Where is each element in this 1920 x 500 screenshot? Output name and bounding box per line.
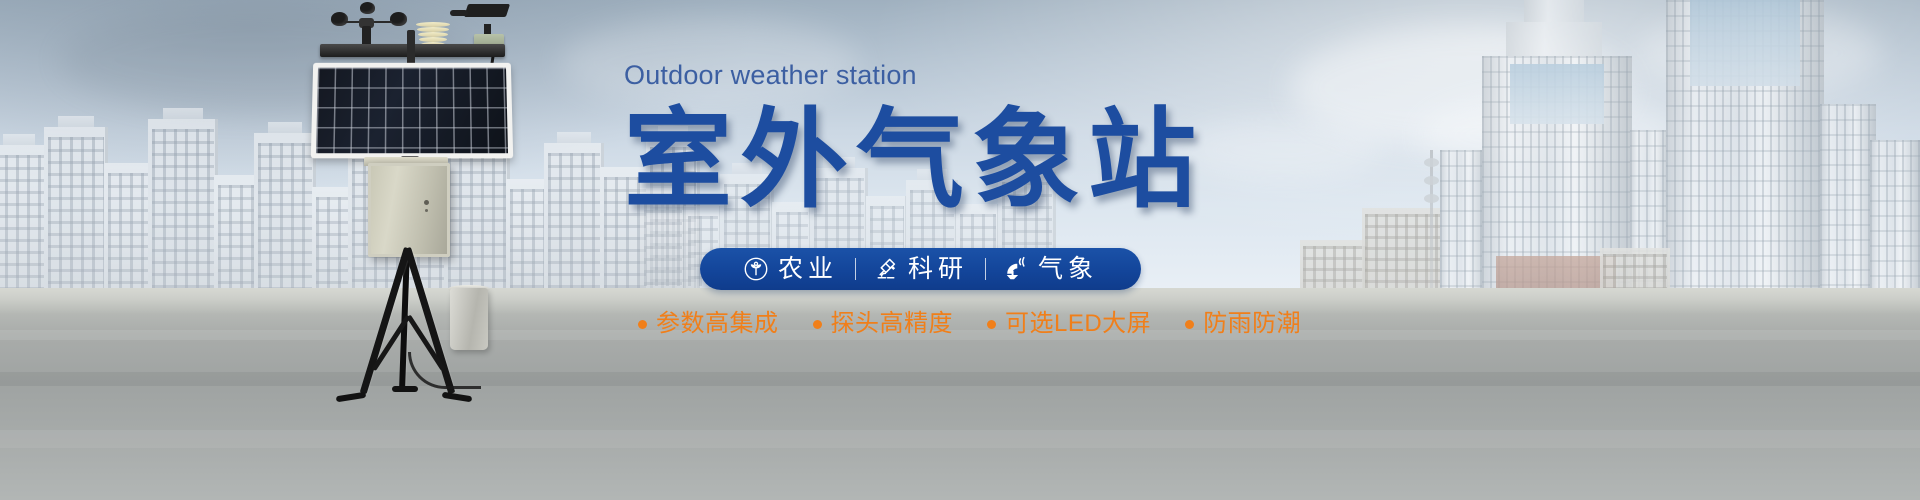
anemometer-cup-icon: [390, 12, 407, 26]
enclosure-lock-icon: [424, 200, 429, 205]
badge-label: 农业: [778, 257, 838, 282]
feature-item: 可选LED大屏: [987, 312, 1151, 336]
banner-subtitle: Outdoor weather station: [624, 62, 1304, 89]
wind-vane-icon: [450, 2, 508, 32]
tripod-foot: [442, 392, 473, 403]
feature-item: 防雨防潮: [1185, 312, 1301, 336]
orange-dot-icon: [813, 320, 822, 329]
orange-dot-icon: [638, 320, 647, 329]
feature-item: 参数高集成: [638, 312, 779, 336]
right-skyline: [1300, 0, 1920, 300]
tripod-foot: [336, 392, 367, 403]
equipment-enclosure: [368, 163, 450, 257]
antenna-node-icon: [1424, 158, 1439, 167]
banner-headline: 室外气象站: [624, 103, 1304, 217]
satellite-dish-icon: [1003, 256, 1029, 282]
antenna-node-icon: [1424, 176, 1439, 185]
rain-gauge-bucket: [450, 288, 488, 350]
badge-item-agriculture[interactable]: 农业: [726, 256, 855, 282]
plant-circle-icon: [743, 256, 769, 282]
feature-label: 防雨防潮: [1203, 312, 1301, 336]
orange-dot-icon: [987, 320, 996, 329]
solar-panel: [311, 63, 513, 158]
category-badge: 农业 科研: [700, 248, 1141, 290]
feature-item: 探头高精度: [813, 312, 954, 336]
anemometer-cup-icon: [331, 12, 348, 26]
anemometer-cup-icon: [360, 2, 375, 14]
microscope-icon: [873, 256, 899, 282]
orange-dot-icon: [1185, 320, 1194, 329]
antenna-node-icon: [1424, 194, 1439, 203]
weather-station-banner: Outdoor weather station 室外气象站 农业: [0, 0, 1920, 500]
ground-streak: [0, 430, 1920, 448]
banner-copy: Outdoor weather station 室外气象站 农业: [624, 62, 1304, 422]
feature-label: 参数高集成: [656, 312, 779, 336]
tripod-foot: [392, 386, 418, 392]
badge-label: 气象: [1038, 257, 1098, 282]
feature-label: 探头高精度: [831, 312, 954, 336]
badge-label: 科研: [908, 257, 968, 282]
feature-list: 参数高集成 探头高精度 可选LED大屏 防雨防潮: [638, 312, 1301, 336]
weather-station-illustration: [300, 0, 530, 420]
badge-item-research[interactable]: 科研: [856, 256, 985, 282]
feature-label: 可选LED大屏: [1005, 312, 1151, 336]
badge-item-meteorology[interactable]: 气象: [986, 256, 1115, 282]
ground-cable: [408, 352, 481, 389]
